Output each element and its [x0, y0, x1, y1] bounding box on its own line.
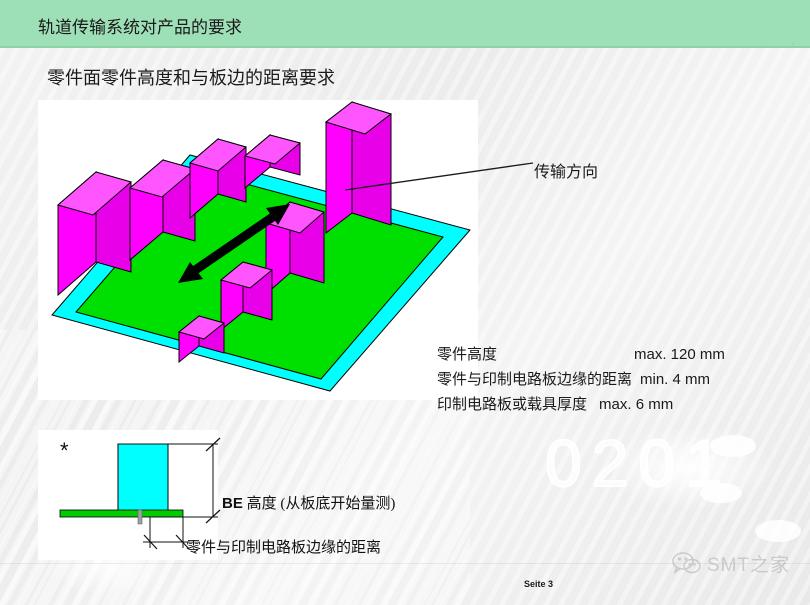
spec-label: 零件与印制电路板边缘的距离 — [437, 368, 640, 389]
spec-value: max. 120 mm — [634, 346, 725, 363]
section-subtitle: 零件面零件高度和与板边的距离要求 — [47, 64, 335, 90]
edge-distance-label: 零件与印制电路板边缘的距离 — [186, 536, 381, 557]
header-corner-mark-icon: . — [791, 36, 794, 46]
pcb-3d-illustration — [38, 100, 478, 400]
be-height-label-rest: 高度 (从板底开始量测) — [243, 496, 396, 512]
page-title: 轨道传输系统对产品的要求 — [38, 13, 242, 38]
page-number: Seite 3 — [524, 579, 553, 589]
direction-leader-line — [345, 152, 545, 192]
background-pad-dot — [710, 435, 756, 457]
spec-row-board-thickness: 印制电路板或载具厚度 max. 6 mm — [437, 393, 725, 418]
slide-header-bar: 轨道传输系统对产品的要求 — [0, 0, 810, 48]
background-pad-dot — [755, 520, 801, 542]
spec-label: 印制电路板或载具厚度 — [437, 393, 599, 414]
watermark-text: SMT之家 — [707, 550, 790, 577]
slide-canvas: 0201 轨道传输系统对产品的要求 . . 零件面零件高度和与板边的距离要求 — [0, 0, 810, 605]
be-height-label-bold: BE — [222, 495, 243, 512]
wechat-watermark: SMT之家 — [672, 550, 790, 577]
background-pad-dot — [700, 483, 742, 503]
specification-list: 零件高度 max. 120 mm 零件与印制电路板边缘的距离 min. 4 mm… — [437, 343, 725, 418]
header-corner-mark-secondary-icon: . — [763, 40, 766, 50]
pcb-3d-illustration-panel — [38, 100, 478, 400]
spec-label: 零件高度 — [437, 343, 634, 364]
wechat-icon — [672, 552, 702, 576]
spec-row-edge-distance: 零件与印制电路板边缘的距离 min. 4 mm — [437, 368, 725, 393]
transport-direction-label: 传输方向 — [534, 158, 598, 182]
spec-row-component-height: 零件高度 max. 120 mm — [437, 343, 725, 368]
be-height-label: BE 高度 (从板底开始量测) — [222, 492, 395, 513]
spec-value: min. 4 mm — [640, 371, 710, 388]
spec-value: max. 6 mm — [599, 396, 673, 413]
